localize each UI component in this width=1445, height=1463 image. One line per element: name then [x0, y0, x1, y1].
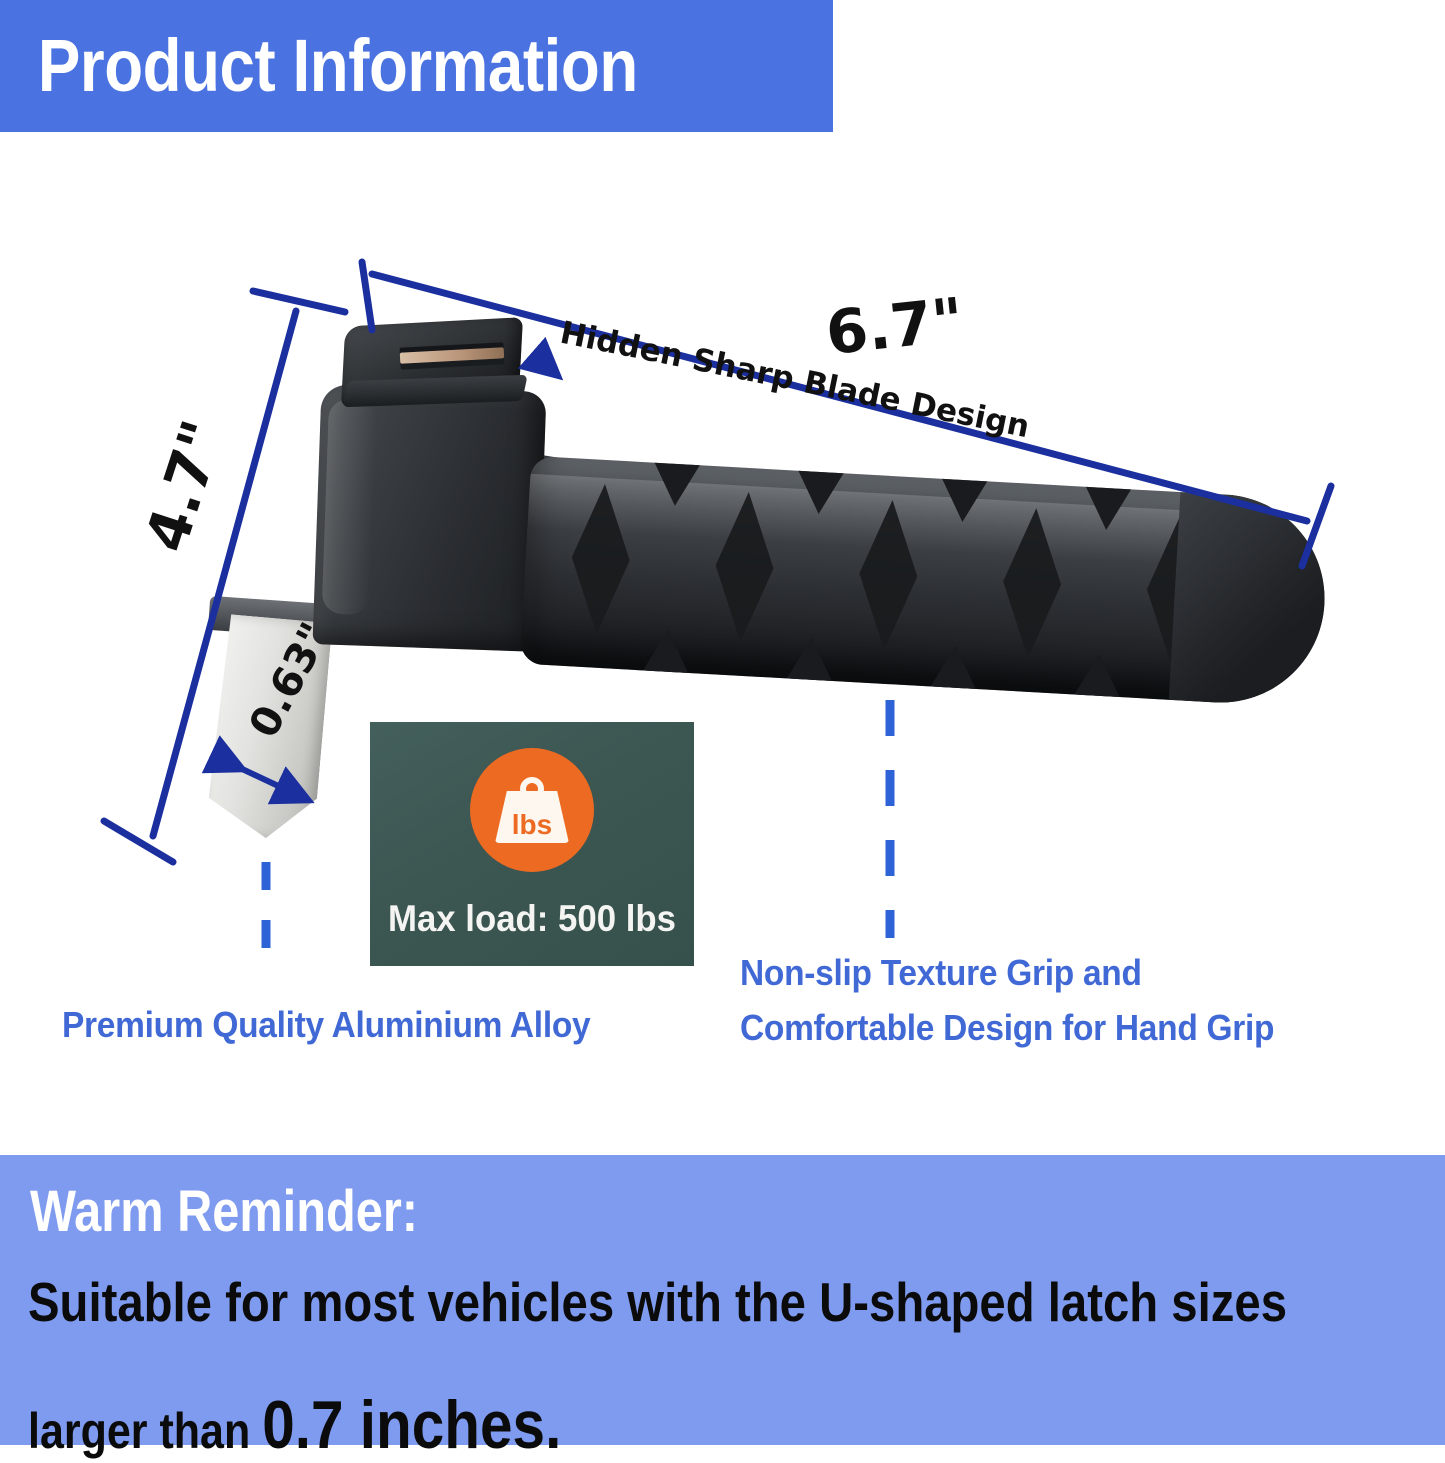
- weight-unit-label: lbs: [495, 811, 569, 839]
- grip-callout-line-1: Non-slip Texture Grip and: [740, 946, 1274, 1001]
- length-dimension-label: 6.7": [823, 285, 967, 369]
- grip-triangle-bottom: [925, 644, 984, 699]
- grip-triangle-top: [647, 456, 706, 508]
- weight-badge: lbs: [470, 748, 594, 872]
- grip-diamond: [711, 490, 777, 643]
- max-load-card: lbs Max load: 500 lbs: [370, 722, 694, 966]
- grip-diamond: [999, 506, 1065, 659]
- grip-triangle-top: [1078, 477, 1137, 532]
- hammer-grip: [520, 456, 1330, 708]
- infographic-canvas: Product Information: [0, 0, 1445, 1445]
- grip-callout-line-2: Comfortable Design for Hand Grip: [740, 1001, 1274, 1056]
- grip-triangle-bottom: [637, 628, 696, 683]
- warm-reminder-line-2: larger than 0.7 inches.: [28, 1391, 561, 1459]
- grip-triangle-top: [791, 460, 850, 515]
- warm-reminder-title: Warm Reminder:: [30, 1183, 418, 1241]
- grip-diamond: [568, 482, 634, 635]
- grip-triangle-bottom: [1068, 652, 1127, 707]
- warm-reminder-line-2-prefix: larger than: [28, 1406, 250, 1456]
- alloy-callout-label: Premium Quality Aluminium Alloy: [62, 998, 590, 1053]
- header-banner: Product Information: [0, 0, 833, 132]
- max-load-caption: Max load: 500 lbs: [380, 898, 685, 940]
- weight-icon: lbs: [495, 777, 569, 843]
- grip-diamond: [855, 498, 921, 651]
- warm-reminder-line-1: Suitable for most vehicles with the U-sh…: [28, 1275, 1287, 1330]
- grip-triangle-bottom: [781, 636, 840, 691]
- hammer-head: [313, 384, 547, 652]
- grip-callout-label: Non-slip Texture Grip and Comfortable De…: [740, 946, 1274, 1055]
- warm-reminder-line-2-emphasis: 0.7 inches.: [250, 1391, 561, 1459]
- height-tick-bottom: [104, 821, 173, 862]
- warm-reminder-section: Warm Reminder: Suitable for most vehicle…: [0, 1155, 1445, 1445]
- page-title: Product Information: [0, 29, 638, 103]
- grip-triangle-top: [934, 469, 993, 524]
